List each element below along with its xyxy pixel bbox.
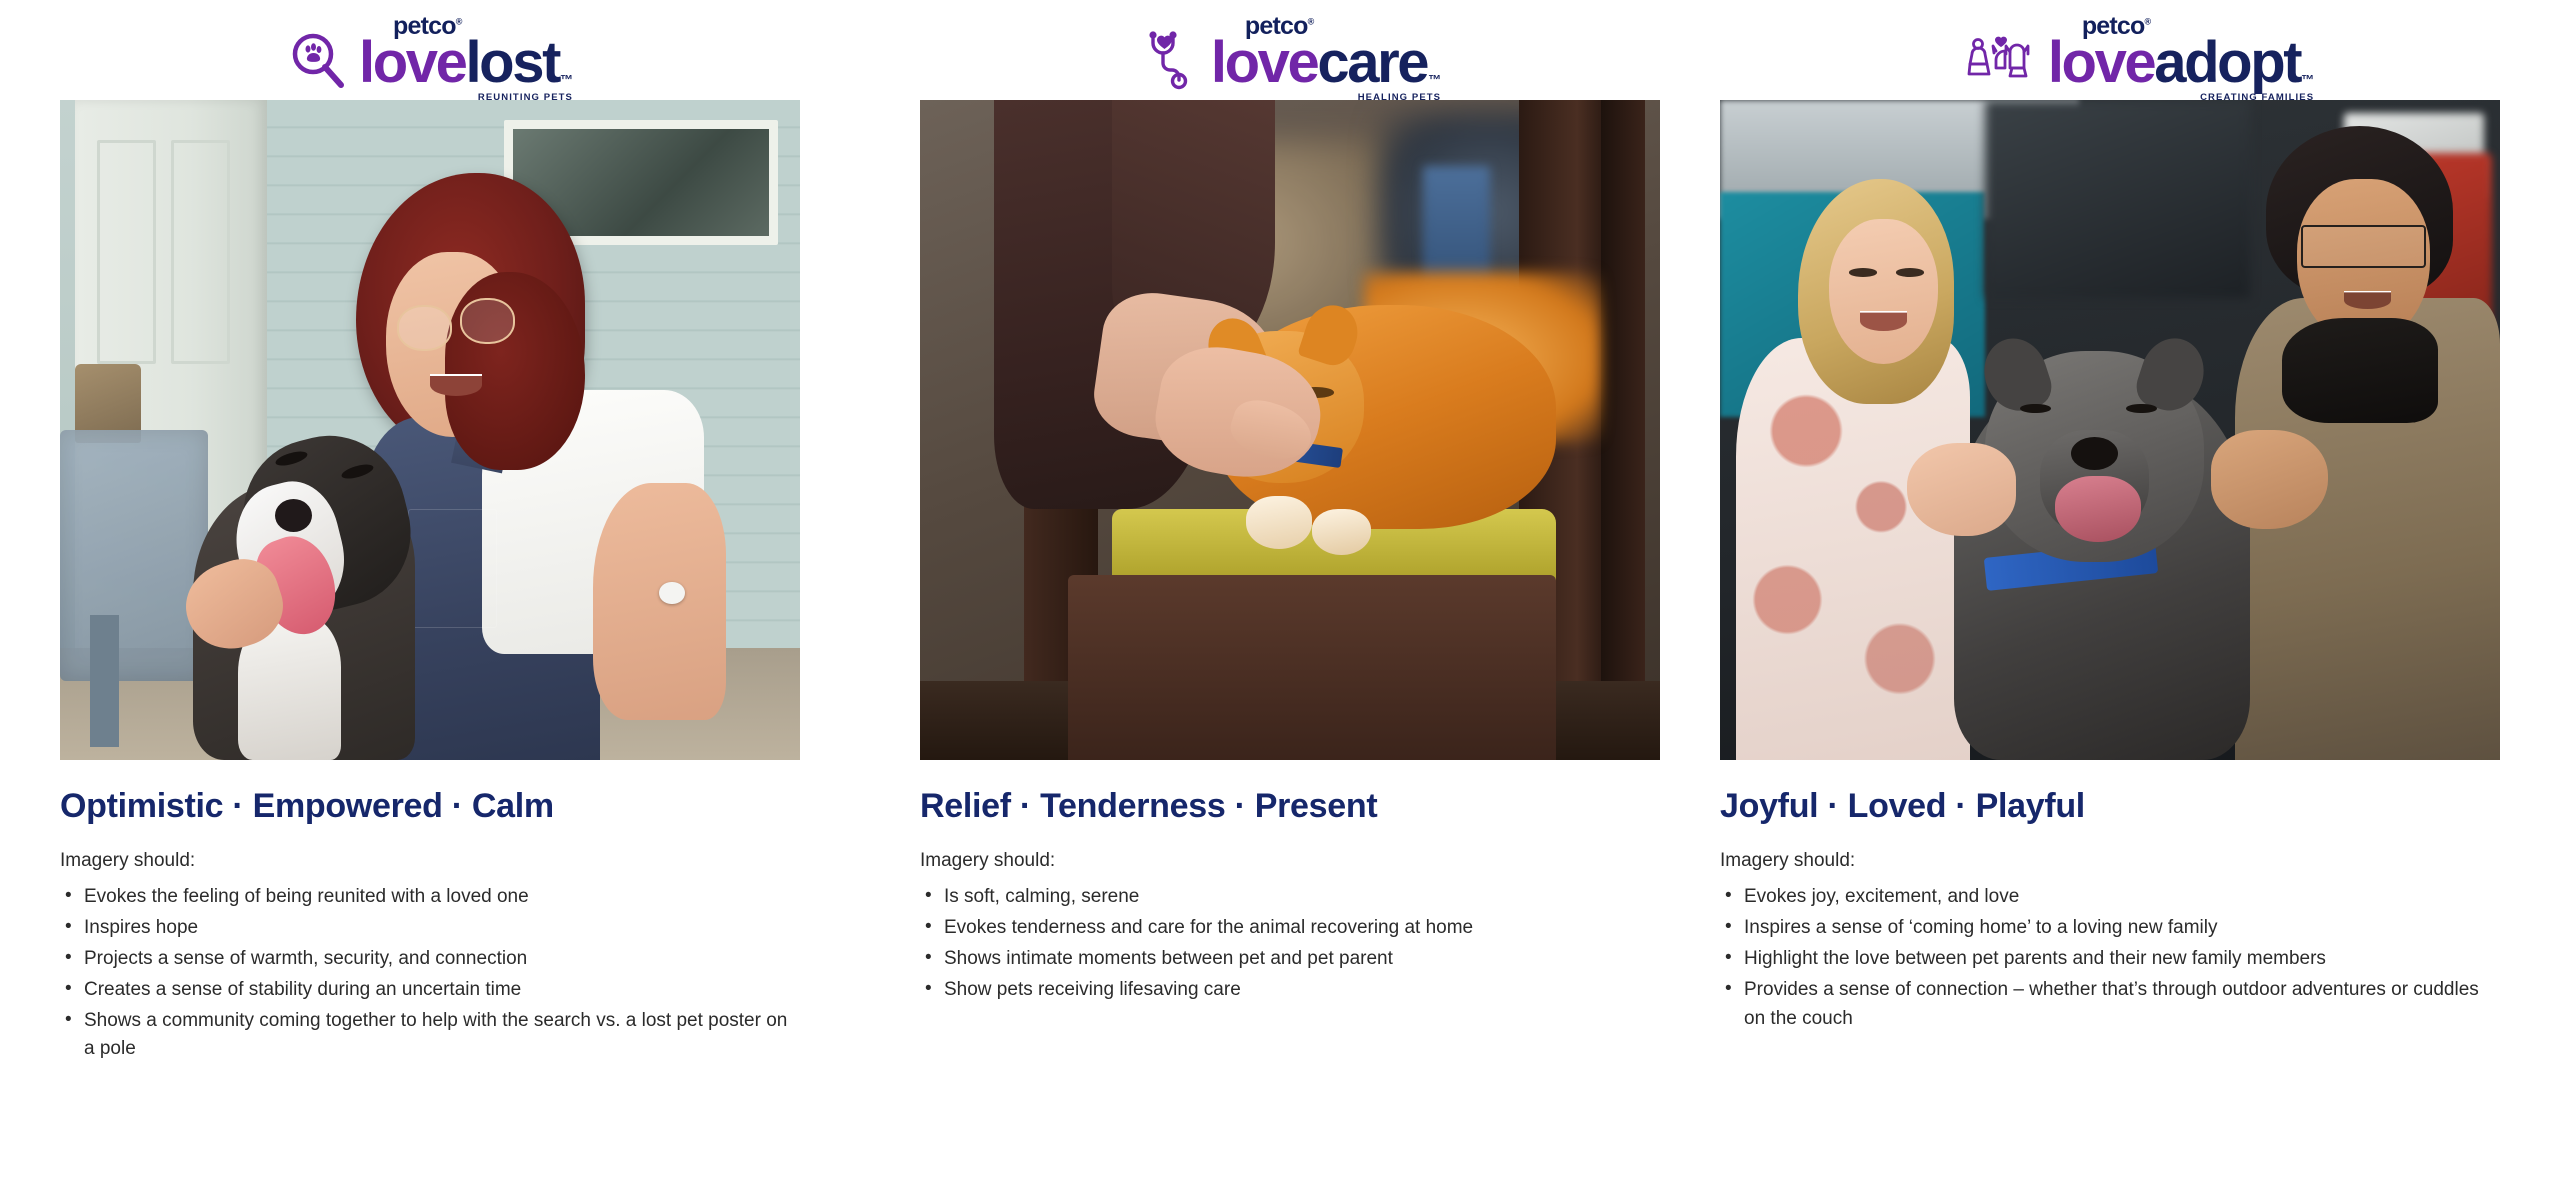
column-love-lost: petco® lovelost™ REUNITING PETS bbox=[0, 0, 860, 1181]
headline: Relief · Tenderness · Present bbox=[920, 788, 1660, 825]
list-item: Evokes tenderness and care for the anima… bbox=[920, 914, 1660, 943]
bullet-list: Evokes the feeling of being reunited wit… bbox=[60, 883, 800, 1064]
lead-label: Imagery should: bbox=[60, 849, 800, 874]
logo-lockup-love-care: petco® lovecare™ HEALING PETS bbox=[860, 0, 1720, 100]
list-item: Inspires hope bbox=[60, 914, 800, 943]
paw-magnifier-icon bbox=[287, 30, 349, 90]
list-item: Creates a sense of stability during an u… bbox=[60, 976, 800, 1005]
brand-word-second: lost bbox=[465, 36, 559, 89]
photo-hand-petting-orange-cat bbox=[920, 100, 1660, 760]
text-block-love-care: Relief · Tenderness · Present Imagery sh… bbox=[920, 760, 1660, 1005]
brand-word-love: love bbox=[2048, 36, 2154, 89]
list-item: Inspires a sense of ‘coming home’ to a l… bbox=[1720, 914, 2500, 943]
logo-lockup-love-adopt: petco® loveadopt™ CREATING FAMILIES bbox=[1720, 0, 2560, 100]
list-item: Shows a community coming together to hel… bbox=[60, 1007, 800, 1065]
trademark-symbol: ™ bbox=[1427, 74, 1441, 90]
list-item: Shows intimate moments between pet and p… bbox=[920, 945, 1660, 974]
text-block-love-adopt: Joyful · Loved · Playful Imagery should:… bbox=[1720, 760, 2500, 1033]
brand-word-second: adopt bbox=[2154, 36, 2300, 89]
column-love-adopt: petco® loveadopt™ CREATING FAMILIES bbox=[1720, 0, 2560, 1181]
brand-word-love: love bbox=[359, 36, 465, 89]
list-item: Highlight the love between pet parents a… bbox=[1720, 945, 2500, 974]
stethoscope-heart-icon bbox=[1139, 30, 1201, 90]
photo-woman-hugging-dog-on-porch bbox=[60, 100, 800, 760]
trademark-symbol: ™ bbox=[2300, 74, 2314, 90]
brand-wordmark: loveadopt™ bbox=[2048, 36, 2314, 89]
logo-lockup-love-lost: petco® lovelost™ REUNITING PETS bbox=[0, 0, 860, 100]
brand-imagery-guidelines-page: petco® lovelost™ REUNITING PETS bbox=[0, 0, 2560, 1181]
text-block-love-lost: Optimistic · Empowered · Calm Imagery sh… bbox=[60, 760, 800, 1064]
list-item: Evokes the feeling of being reunited wit… bbox=[60, 883, 800, 912]
lead-label: Imagery should: bbox=[920, 849, 1660, 874]
list-item: Is soft, calming, serene bbox=[920, 883, 1660, 912]
list-item: Projects a sense of warmth, security, an… bbox=[60, 945, 800, 974]
bullet-list: Is soft, calming, serene Evokes tenderne… bbox=[920, 883, 1660, 1005]
headline: Optimistic · Empowered · Calm bbox=[60, 788, 800, 825]
list-item: Show pets receiving lifesaving care bbox=[920, 976, 1660, 1005]
brand-wordmark: lovecare™ bbox=[1211, 36, 1441, 89]
column-love-care: petco® lovecare™ HEALING PETS bbox=[860, 0, 1720, 1181]
lead-label: Imagery should: bbox=[1720, 849, 2500, 874]
headline: Joyful · Loved · Playful bbox=[1720, 788, 2500, 825]
trademark-symbol: ™ bbox=[559, 74, 573, 90]
photo-couple-adopting-grey-dog bbox=[1720, 100, 2500, 760]
brand-word-love: love bbox=[1211, 36, 1317, 89]
three-column-layout: petco® lovelost™ REUNITING PETS bbox=[0, 0, 2560, 1181]
list-item: Provides a sense of connection – whether… bbox=[1720, 976, 2500, 1034]
brand-wordmark: lovelost™ bbox=[359, 36, 573, 89]
bullet-list: Evokes joy, excitement, and love Inspire… bbox=[1720, 883, 2500, 1033]
brand-word-second: care bbox=[1317, 36, 1427, 89]
person-dog-cat-heart-icon bbox=[1966, 30, 2038, 90]
list-item: Evokes joy, excitement, and love bbox=[1720, 883, 2500, 912]
